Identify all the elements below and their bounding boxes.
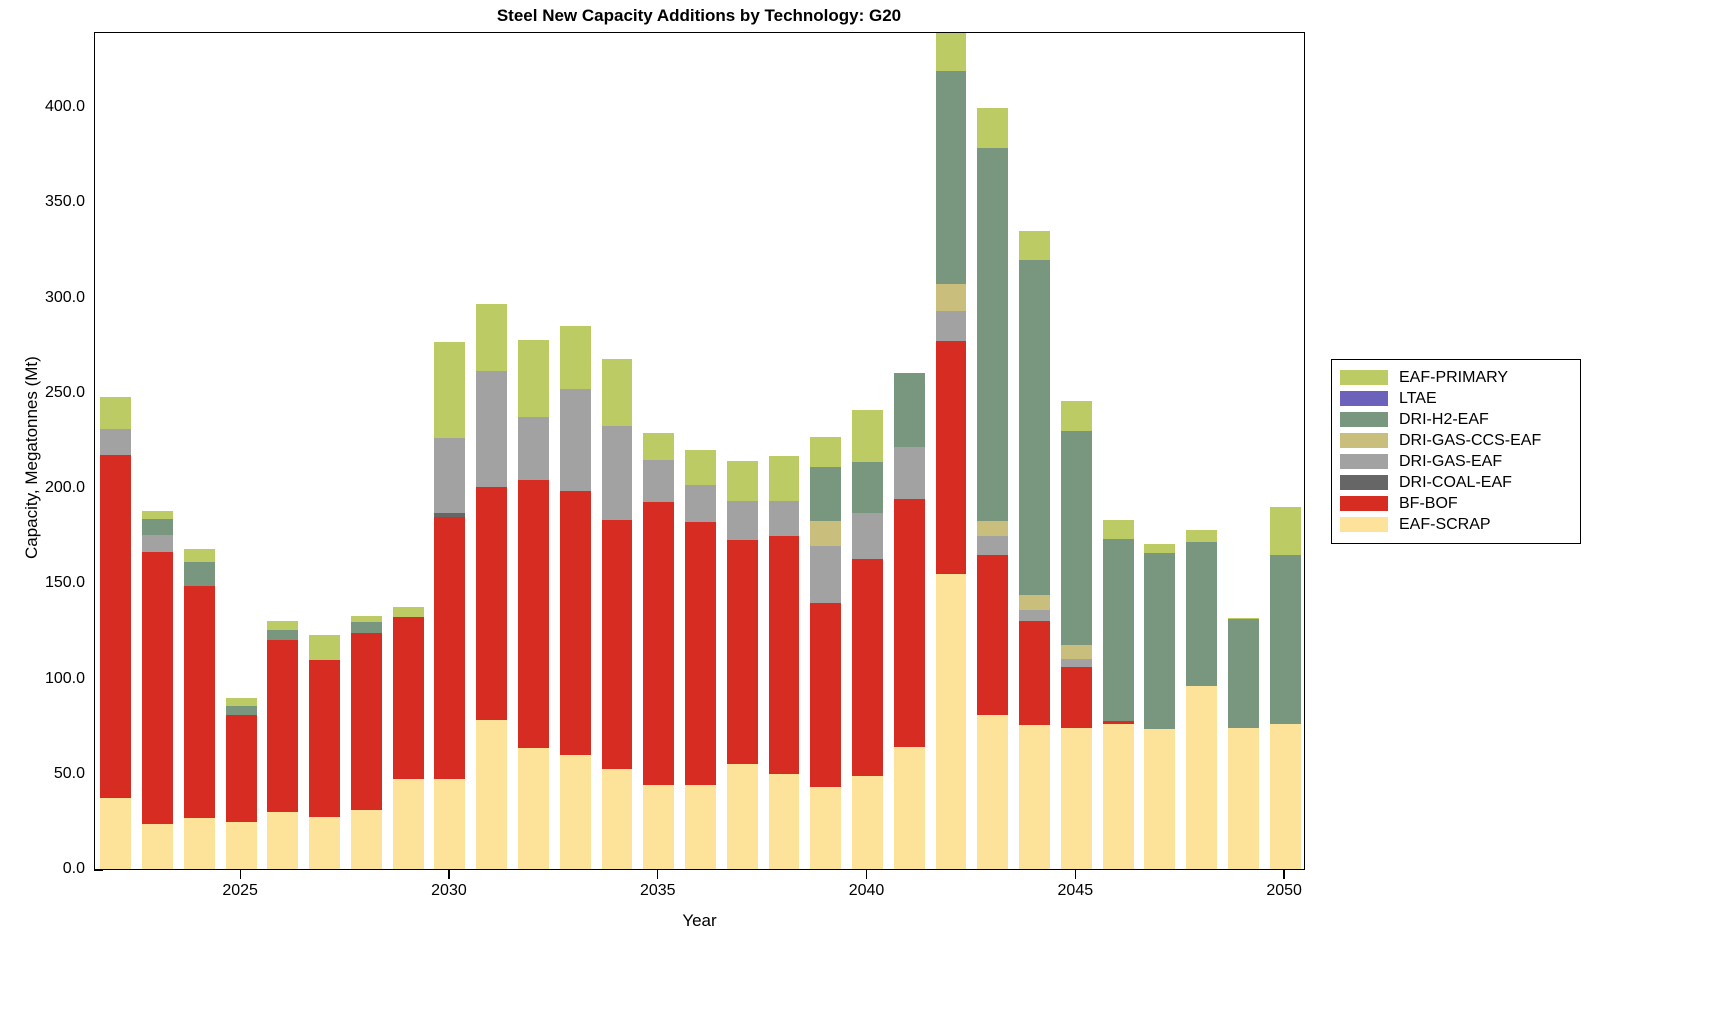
bar-2042[interactable] [936, 32, 967, 869]
bar-segment-bf-bof[interactable] [1061, 667, 1092, 728]
bar-2038[interactable] [769, 456, 800, 869]
legend-item-dri-h2-eaf[interactable]: DRI-H2-EAF [1340, 409, 1572, 430]
bar-segment-eaf-scrap[interactable] [393, 779, 424, 869]
bar-segment-eaf-scrap[interactable] [685, 785, 716, 869]
bar-2026[interactable] [267, 621, 298, 869]
page-title: Steel New Capacity Additions by Technolo… [94, 6, 1304, 26]
bar-segment-eaf-primary[interactable] [434, 342, 465, 437]
bar-segment-eaf-scrap[interactable] [560, 755, 591, 869]
bar-segment-eaf-primary[interactable] [1270, 507, 1301, 555]
bar-segment-eaf-primary[interactable] [476, 304, 507, 371]
bar-segment-eaf-scrap[interactable] [1019, 725, 1050, 869]
legend-item-label: DRI-COAL-EAF [1399, 474, 1512, 492]
legend-swatch-icon [1340, 433, 1388, 448]
bar-segment-eaf-scrap[interactable] [226, 822, 257, 869]
y-tick-label: 150.0 [45, 574, 85, 592]
bar-segment-dri-gas-eaf[interactable] [894, 447, 925, 498]
bar-segment-dri-gas-eaf[interactable] [476, 371, 507, 487]
bar-segment-dri-h2-eaf[interactable] [810, 467, 841, 521]
bar-segment-eaf-primary[interactable] [351, 616, 382, 623]
legend-swatch-icon [1340, 475, 1388, 490]
legend-swatch-icon [1340, 496, 1388, 511]
bar-segment-dri-h2-eaf[interactable] [1103, 539, 1134, 722]
bar-segment-eaf-primary[interactable] [1103, 520, 1134, 539]
bar-segment-eaf-scrap[interactable] [184, 818, 215, 869]
bar-segment-dri-gas-eaf[interactable] [685, 485, 716, 522]
bar-segment-dri-gas-eaf[interactable] [852, 513, 883, 559]
bar-2039[interactable] [810, 437, 841, 869]
legend-swatch-icon [1340, 517, 1388, 532]
bar-segment-eaf-scrap[interactable] [351, 810, 382, 869]
bar-segment-bf-bof[interactable] [142, 552, 173, 824]
bar-segment-eaf-primary[interactable] [518, 340, 549, 417]
bar-2037[interactable] [727, 461, 758, 869]
bar-segment-dri-h2-eaf[interactable] [267, 630, 298, 640]
legend-item-eaf-scrap[interactable]: EAF-SCRAP [1340, 514, 1572, 535]
bar-segment-dri-h2-eaf[interactable] [936, 71, 967, 284]
bar-segment-dri-gas-eaf[interactable] [434, 438, 465, 513]
bar-segment-eaf-primary[interactable] [1186, 530, 1217, 542]
y-tick-label: 0.0 [63, 860, 85, 878]
bar-segment-bf-bof[interactable] [810, 603, 841, 787]
legend: EAF-PRIMARYLTAEDRI-H2-EAFDRI-GAS-CCS-EAF… [1331, 359, 1581, 544]
bar-segment-eaf-primary[interactable] [769, 456, 800, 501]
bar-segment-eaf-primary[interactable] [852, 410, 883, 462]
bar-2050[interactable] [1270, 507, 1301, 869]
x-tick-label: 2040 [827, 882, 907, 900]
legend-item-ltae[interactable]: LTAE [1340, 388, 1572, 409]
legend-item-label: DRI-GAS-CCS-EAF [1399, 432, 1541, 450]
bar-segment-bf-bof[interactable] [852, 559, 883, 776]
legend-item-label: LTAE [1399, 390, 1437, 408]
bar-segment-dri-gas-eaf[interactable] [936, 311, 967, 341]
bar-segment-eaf-primary[interactable] [309, 635, 340, 661]
bar-segment-eaf-scrap[interactable] [1103, 724, 1134, 869]
bar-segment-bf-bof[interactable] [727, 540, 758, 765]
bar-segment-eaf-scrap[interactable] [1061, 728, 1092, 869]
bar-segment-dri-h2-eaf[interactable] [977, 148, 1008, 521]
bar-segment-dri-gas-eaf[interactable] [769, 501, 800, 536]
bar-segment-eaf-primary[interactable] [393, 607, 424, 617]
bar-segment-dri-h2-eaf[interactable] [894, 373, 925, 447]
bar-segment-dri-h2-eaf[interactable] [1270, 555, 1301, 725]
bar-2036[interactable] [685, 450, 716, 869]
y-tick-label: 250.0 [45, 384, 85, 402]
bar-segment-eaf-primary[interactable] [560, 326, 591, 389]
bar-2049[interactable] [1228, 618, 1259, 869]
bar-segment-eaf-primary[interactable] [810, 437, 841, 467]
bar-segment-bf-bof[interactable] [1019, 621, 1050, 725]
y-tick-label: 300.0 [45, 289, 85, 307]
bar-segment-dri-gas-ccs-eaf[interactable] [936, 284, 967, 311]
bar-segment-dri-gas-eaf[interactable] [1061, 659, 1092, 668]
bar-segment-eaf-scrap[interactable] [769, 774, 800, 869]
bar-segment-bf-bof[interactable] [936, 341, 967, 573]
x-tick-label: 2025 [200, 882, 280, 900]
bar-2033[interactable] [560, 326, 591, 869]
bar-2028[interactable] [351, 616, 382, 869]
bar-2035[interactable] [643, 433, 674, 869]
bar-2022[interactable] [100, 397, 131, 869]
legend-swatch-icon [1340, 391, 1388, 406]
bar-segment-dri-gas-eaf[interactable] [142, 535, 173, 552]
bars-layer [95, 33, 1304, 869]
y-tick-label: 50.0 [54, 765, 85, 783]
bar-2027[interactable] [309, 635, 340, 869]
bar-segment-bf-bof[interactable] [643, 502, 674, 785]
bar-segment-eaf-scrap[interactable] [518, 748, 549, 869]
bar-segment-dri-gas-eaf[interactable] [602, 426, 633, 520]
bar-2031[interactable] [476, 304, 507, 869]
bar-segment-bf-bof[interactable] [769, 536, 800, 774]
bar-segment-bf-bof[interactable] [685, 522, 716, 785]
bar-segment-dri-gas-ccs-eaf[interactable] [1019, 595, 1050, 610]
x-tick-mark [657, 870, 658, 879]
bar-segment-eaf-scrap[interactable] [852, 776, 883, 869]
x-tick-mark [866, 870, 867, 879]
bar-segment-eaf-scrap[interactable] [267, 812, 298, 869]
bar-segment-dri-gas-eaf[interactable] [100, 429, 131, 455]
bar-segment-eaf-primary[interactable] [727, 461, 758, 501]
bar-segment-dri-h2-eaf[interactable] [1061, 431, 1092, 645]
bar-segment-dri-gas-eaf[interactable] [518, 417, 549, 480]
bar-segment-eaf-scrap[interactable] [1144, 729, 1175, 869]
bar-segment-eaf-primary[interactable] [1019, 231, 1050, 260]
bar-segment-dri-h2-eaf[interactable] [351, 622, 382, 632]
bar-segment-dri-h2-eaf[interactable] [1144, 553, 1175, 729]
bar-segment-dri-gas-eaf[interactable] [560, 389, 591, 491]
bar-segment-dri-gas-eaf[interactable] [977, 536, 1008, 555]
bar-segment-eaf-scrap[interactable] [643, 785, 674, 869]
bar-segment-eaf-scrap[interactable] [1270, 724, 1301, 869]
bar-2032[interactable] [518, 340, 549, 869]
bar-segment-bf-bof[interactable] [351, 633, 382, 810]
bar-2024[interactable] [184, 549, 215, 869]
bar-segment-dri-h2-eaf[interactable] [1186, 542, 1217, 686]
bar-segment-eaf-primary[interactable] [142, 511, 173, 519]
legend-item-label: EAF-PRIMARY [1399, 369, 1508, 387]
bar-segment-dri-gas-ccs-eaf[interactable] [810, 521, 841, 546]
y-tick-label: 350.0 [45, 193, 85, 211]
bar-2040[interactable] [852, 410, 883, 869]
bar-segment-eaf-primary[interactable] [267, 621, 298, 630]
bar-segment-bf-bof[interactable] [184, 586, 215, 817]
bar-segment-dri-h2-eaf[interactable] [226, 706, 257, 715]
bar-segment-dri-gas-eaf[interactable] [643, 460, 674, 503]
bar-segment-eaf-scrap[interactable] [434, 779, 465, 869]
figure-canvas: Steel New Capacity Additions by Technolo… [0, 0, 1720, 1021]
bar-segment-eaf-scrap[interactable] [936, 574, 967, 869]
bar-segment-eaf-scrap[interactable] [1186, 686, 1217, 869]
bar-2025[interactable] [226, 698, 257, 869]
bar-segment-eaf-primary[interactable] [1144, 544, 1175, 553]
bar-segment-eaf-scrap[interactable] [100, 798, 131, 869]
plot-area [94, 32, 1305, 870]
bar-segment-bf-bof[interactable] [226, 715, 257, 823]
bar-segment-eaf-primary[interactable] [977, 108, 1008, 148]
bar-2045[interactable] [1061, 401, 1092, 869]
bar-2030[interactable] [434, 342, 465, 869]
y-tick-label: 400.0 [45, 98, 85, 116]
bar-2023[interactable] [142, 511, 173, 869]
legend-item-dri-coal-eaf[interactable]: DRI-COAL-EAF [1340, 472, 1572, 493]
x-tick-mark [240, 870, 241, 879]
bar-2044[interactable] [1019, 231, 1050, 869]
legend-swatch-icon [1340, 412, 1388, 427]
bar-segment-dri-gas-eaf[interactable] [727, 501, 758, 539]
x-tick-mark [1075, 870, 1076, 879]
bar-segment-bf-bof[interactable] [560, 491, 591, 755]
bar-segment-bf-bof[interactable] [434, 517, 465, 779]
bar-segment-bf-bof[interactable] [100, 455, 131, 798]
bar-segment-eaf-primary[interactable] [685, 450, 716, 485]
y-tick-label: 100.0 [45, 670, 85, 688]
legend-item-dri-gas-ccs-eaf[interactable]: DRI-GAS-CCS-EAF [1340, 430, 1572, 451]
x-axis-label: Year [94, 911, 1305, 931]
x-tick-mark [1283, 870, 1284, 879]
bar-2041[interactable] [894, 373, 925, 869]
bar-segment-bf-bof[interactable] [267, 640, 298, 812]
legend-item-label: DRI-H2-EAF [1399, 411, 1489, 429]
bar-segment-dri-h2-eaf[interactable] [852, 462, 883, 512]
bar-segment-eaf-primary[interactable] [1061, 401, 1092, 431]
x-tick-mark [448, 870, 449, 879]
bar-2029[interactable] [393, 607, 424, 869]
bar-segment-dri-h2-eaf[interactable] [142, 519, 173, 535]
x-tick-label: 2030 [409, 882, 489, 900]
bar-2046[interactable] [1103, 520, 1134, 869]
bar-segment-eaf-scrap[interactable] [977, 715, 1008, 869]
bar-segment-eaf-primary[interactable] [100, 397, 131, 429]
y-tick-label: 200.0 [45, 479, 85, 497]
bar-segment-eaf-scrap[interactable] [810, 787, 841, 869]
legend-item-dri-gas-eaf[interactable]: DRI-GAS-EAF [1340, 451, 1572, 472]
bar-segment-eaf-primary[interactable] [936, 32, 967, 71]
bar-segment-dri-gas-eaf[interactable] [810, 546, 841, 603]
x-tick-label: 2035 [618, 882, 698, 900]
bar-segment-bf-bof[interactable] [309, 660, 340, 816]
bar-segment-eaf-scrap[interactable] [476, 720, 507, 869]
bar-segment-bf-bof[interactable] [602, 520, 633, 769]
bar-segment-eaf-primary[interactable] [226, 698, 257, 707]
bar-segment-eaf-scrap[interactable] [894, 747, 925, 869]
bar-segment-eaf-scrap[interactable] [602, 769, 633, 869]
bar-segment-eaf-scrap[interactable] [309, 817, 340, 869]
legend-swatch-icon [1340, 454, 1388, 469]
bar-segment-dri-gas-eaf[interactable] [1019, 610, 1050, 621]
bar-2047[interactable] [1144, 544, 1175, 869]
bar-segment-bf-bof[interactable] [393, 617, 424, 779]
bar-2034[interactable] [602, 359, 633, 869]
bar-segment-dri-h2-eaf[interactable] [1019, 260, 1050, 595]
bar-segment-dri-gas-ccs-eaf[interactable] [977, 521, 1008, 535]
bar-segment-eaf-scrap[interactable] [142, 824, 173, 869]
bar-segment-bf-bof[interactable] [894, 499, 925, 748]
legend-swatch-icon [1340, 370, 1388, 385]
x-tick-label: 2045 [1035, 882, 1115, 900]
bar-segment-dri-h2-eaf[interactable] [184, 562, 215, 586]
x-tick-label: 2050 [1244, 882, 1324, 900]
bar-segment-dri-h2-eaf[interactable] [1228, 619, 1259, 729]
bar-segment-eaf-scrap[interactable] [727, 764, 758, 869]
bar-segment-eaf-primary[interactable] [643, 433, 674, 460]
legend-item-bf-bof[interactable]: BF-BOF [1340, 493, 1572, 514]
legend-item-label: DRI-GAS-EAF [1399, 453, 1502, 471]
bar-segment-eaf-primary[interactable] [602, 359, 633, 427]
bar-segment-bf-bof[interactable] [977, 555, 1008, 715]
legend-item-eaf-primary[interactable]: EAF-PRIMARY [1340, 367, 1572, 388]
bar-segment-eaf-primary[interactable] [184, 549, 215, 562]
bar-segment-dri-gas-ccs-eaf[interactable] [1061, 645, 1092, 658]
bar-2048[interactable] [1186, 530, 1217, 869]
bar-segment-bf-bof[interactable] [518, 480, 549, 749]
bar-segment-eaf-scrap[interactable] [1228, 728, 1259, 869]
legend-item-label: BF-BOF [1399, 495, 1458, 513]
bar-segment-bf-bof[interactable] [476, 487, 507, 720]
bar-2043[interactable] [977, 108, 1008, 869]
y-axis-label: Capacity, Megatonnes (Mt) [22, 356, 42, 559]
legend-item-label: EAF-SCRAP [1399, 516, 1491, 534]
